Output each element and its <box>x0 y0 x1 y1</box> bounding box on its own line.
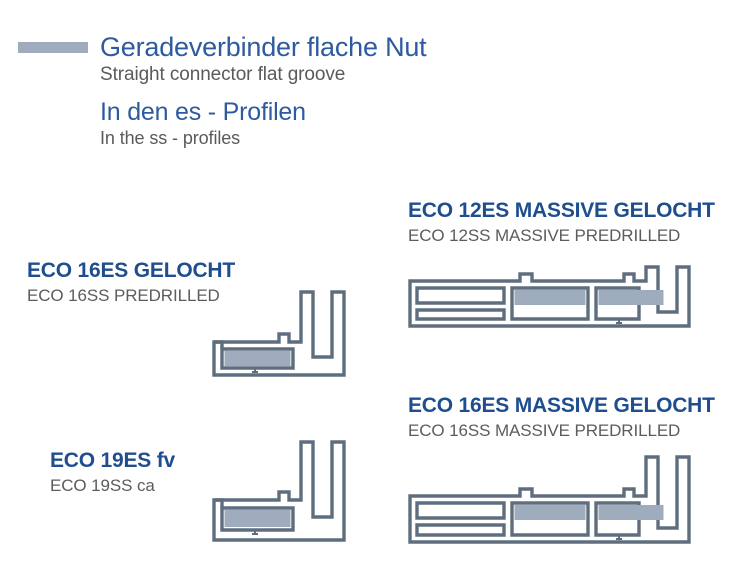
connector-insert <box>599 506 663 520</box>
legend-profiles-en: In the ss - profiles <box>100 128 488 149</box>
connector-insert <box>515 291 585 305</box>
product-item-19es: ECO 19ES fv ECO 19SS ca <box>50 450 175 495</box>
legend-title-row: Geradeverbinder flache Nut <box>18 30 488 64</box>
profile-cross-section-19es <box>205 437 360 552</box>
profile-cross-section-16es <box>205 287 360 379</box>
legend-title-de: Geradeverbinder flache Nut <box>100 33 427 61</box>
connector-insert <box>225 352 290 366</box>
connector-insert <box>225 511 290 527</box>
product-item-16es-massive: ECO 16ES MASSIVE GELOCHT ECO 16SS MASSIV… <box>408 395 715 440</box>
product-subtitle-19es: ECO 19SS ca <box>50 476 175 496</box>
product-subtitle-16es: ECO 16SS PREDRILLED <box>27 286 235 306</box>
product-subtitle-12es-massive: ECO 12SS MASSIVE PREDRILLED <box>408 226 715 246</box>
product-title-19es: ECO 19ES fv <box>50 450 175 473</box>
product-item-16es: ECO 16ES GELOCHT ECO 16SS PREDRILLED <box>27 260 235 305</box>
connector-insert <box>599 291 663 305</box>
profile-cross-section-12es-massive <box>406 262 701 334</box>
product-title-12es-massive: ECO 12ES MASSIVE GELOCHT <box>408 200 715 223</box>
profile-cross-section-16es-massive <box>406 452 701 552</box>
product-title-16es: ECO 16ES GELOCHT <box>27 260 235 283</box>
legend-profiles-de: In den es - Profilen <box>100 99 488 125</box>
diagram-canvas: Geradeverbinder flache Nut Straight conn… <box>0 0 756 567</box>
product-item-12es-massive: ECO 12ES MASSIVE GELOCHT ECO 12SS MASSIV… <box>408 200 715 245</box>
product-title-16es-massive: ECO 16ES MASSIVE GELOCHT <box>408 395 715 418</box>
connector-insert <box>515 506 585 520</box>
product-subtitle-16es-massive: ECO 16SS MASSIVE PREDRILLED <box>408 421 715 441</box>
connector-color-swatch-icon <box>18 42 88 53</box>
legend-header: Geradeverbinder flache Nut Straight conn… <box>18 30 488 149</box>
legend-title-en: Straight connector flat groove <box>100 64 488 86</box>
